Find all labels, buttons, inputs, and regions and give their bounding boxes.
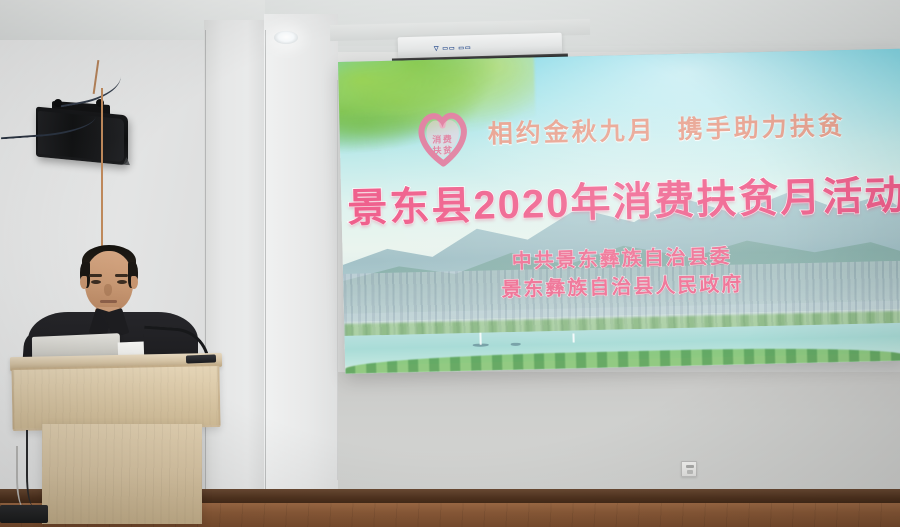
eye-left (91, 280, 101, 284)
conference-room-photo: ▽ ▭▭ ▭▭ 消费 扶贫 (0, 0, 900, 527)
wall-edge-mid (265, 30, 266, 492)
eyebrow-left (89, 274, 102, 277)
projection-screen: 消费 扶贫 相约金秋九月携手助力扶贫 景东县2020年消费扶贫月活动启动仪式 中… (338, 49, 900, 374)
heart-logo-text: 消费 扶贫 (425, 134, 462, 157)
socket-slot-upper (686, 465, 694, 468)
banner-sail-1 (479, 333, 481, 345)
socket-slot-lower (687, 470, 693, 474)
heart-logo-line1: 消费 (432, 134, 453, 144)
microphone-base (186, 354, 216, 363)
ear-left (80, 276, 87, 289)
nose (104, 284, 112, 296)
banner-organizations: 中共景东彝族自治县委 景东彝族自治县人民政府 (500, 243, 743, 305)
heart-logo: 消费 扶贫 (411, 107, 474, 170)
podium-base (42, 424, 202, 524)
podium-front-panel (11, 364, 220, 431)
wall-column-far (264, 14, 338, 492)
banner-org-line-2: 景东彝族自治县人民政府 (501, 271, 744, 305)
wall-power-socket[interactable] (681, 461, 697, 477)
wall-below-screen (338, 372, 900, 492)
floor-equipment-box (0, 505, 48, 523)
speaker-person (0, 0, 230, 300)
banner-subtitle-left: 相约金秋九月 (487, 117, 656, 149)
ear-right (131, 276, 138, 289)
banner-boat-2 (511, 343, 521, 346)
ceiling-light-icon (274, 31, 298, 44)
eyebrow-right (115, 274, 128, 277)
banner-subtitle-right: 携手助力扶贫 (677, 112, 846, 144)
podium-cable-white (16, 446, 32, 508)
banner-sail-2 (572, 334, 574, 343)
heart-logo-line2: 扶贫 (432, 145, 453, 155)
housing-brand-logo-icon: ▽ ▭▭ ▭▭ (434, 44, 472, 52)
eye-right (117, 280, 127, 284)
mouth (100, 300, 117, 303)
